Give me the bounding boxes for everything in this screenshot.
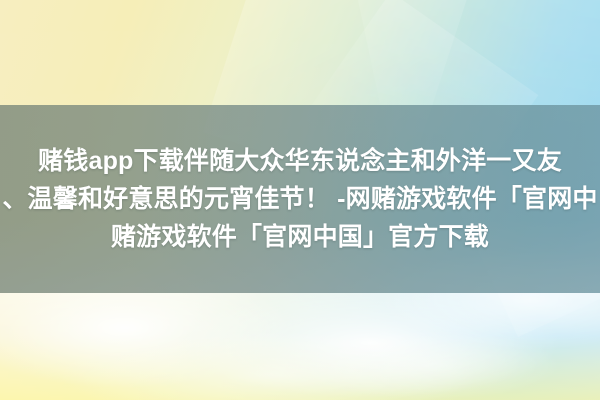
caption-line-3: 赌游戏软件「官网中国」官方下载 [111,218,489,256]
caption-line-1: 赌钱app下载伴随大众华东说念主和外洋一又友 [38,142,562,180]
caption-line-2: 、温馨和好意思的元宵佳节！ -网赌游戏软件「官网中 [2,180,597,218]
banner-image: 赌钱app下载伴随大众华东说念主和外洋一又友 、温馨和好意思的元宵佳节！ -网赌… [0,0,600,400]
caption-text-block: 赌钱app下载伴随大众华东说念主和外洋一又友 、温馨和好意思的元宵佳节！ -网赌… [0,105,600,293]
